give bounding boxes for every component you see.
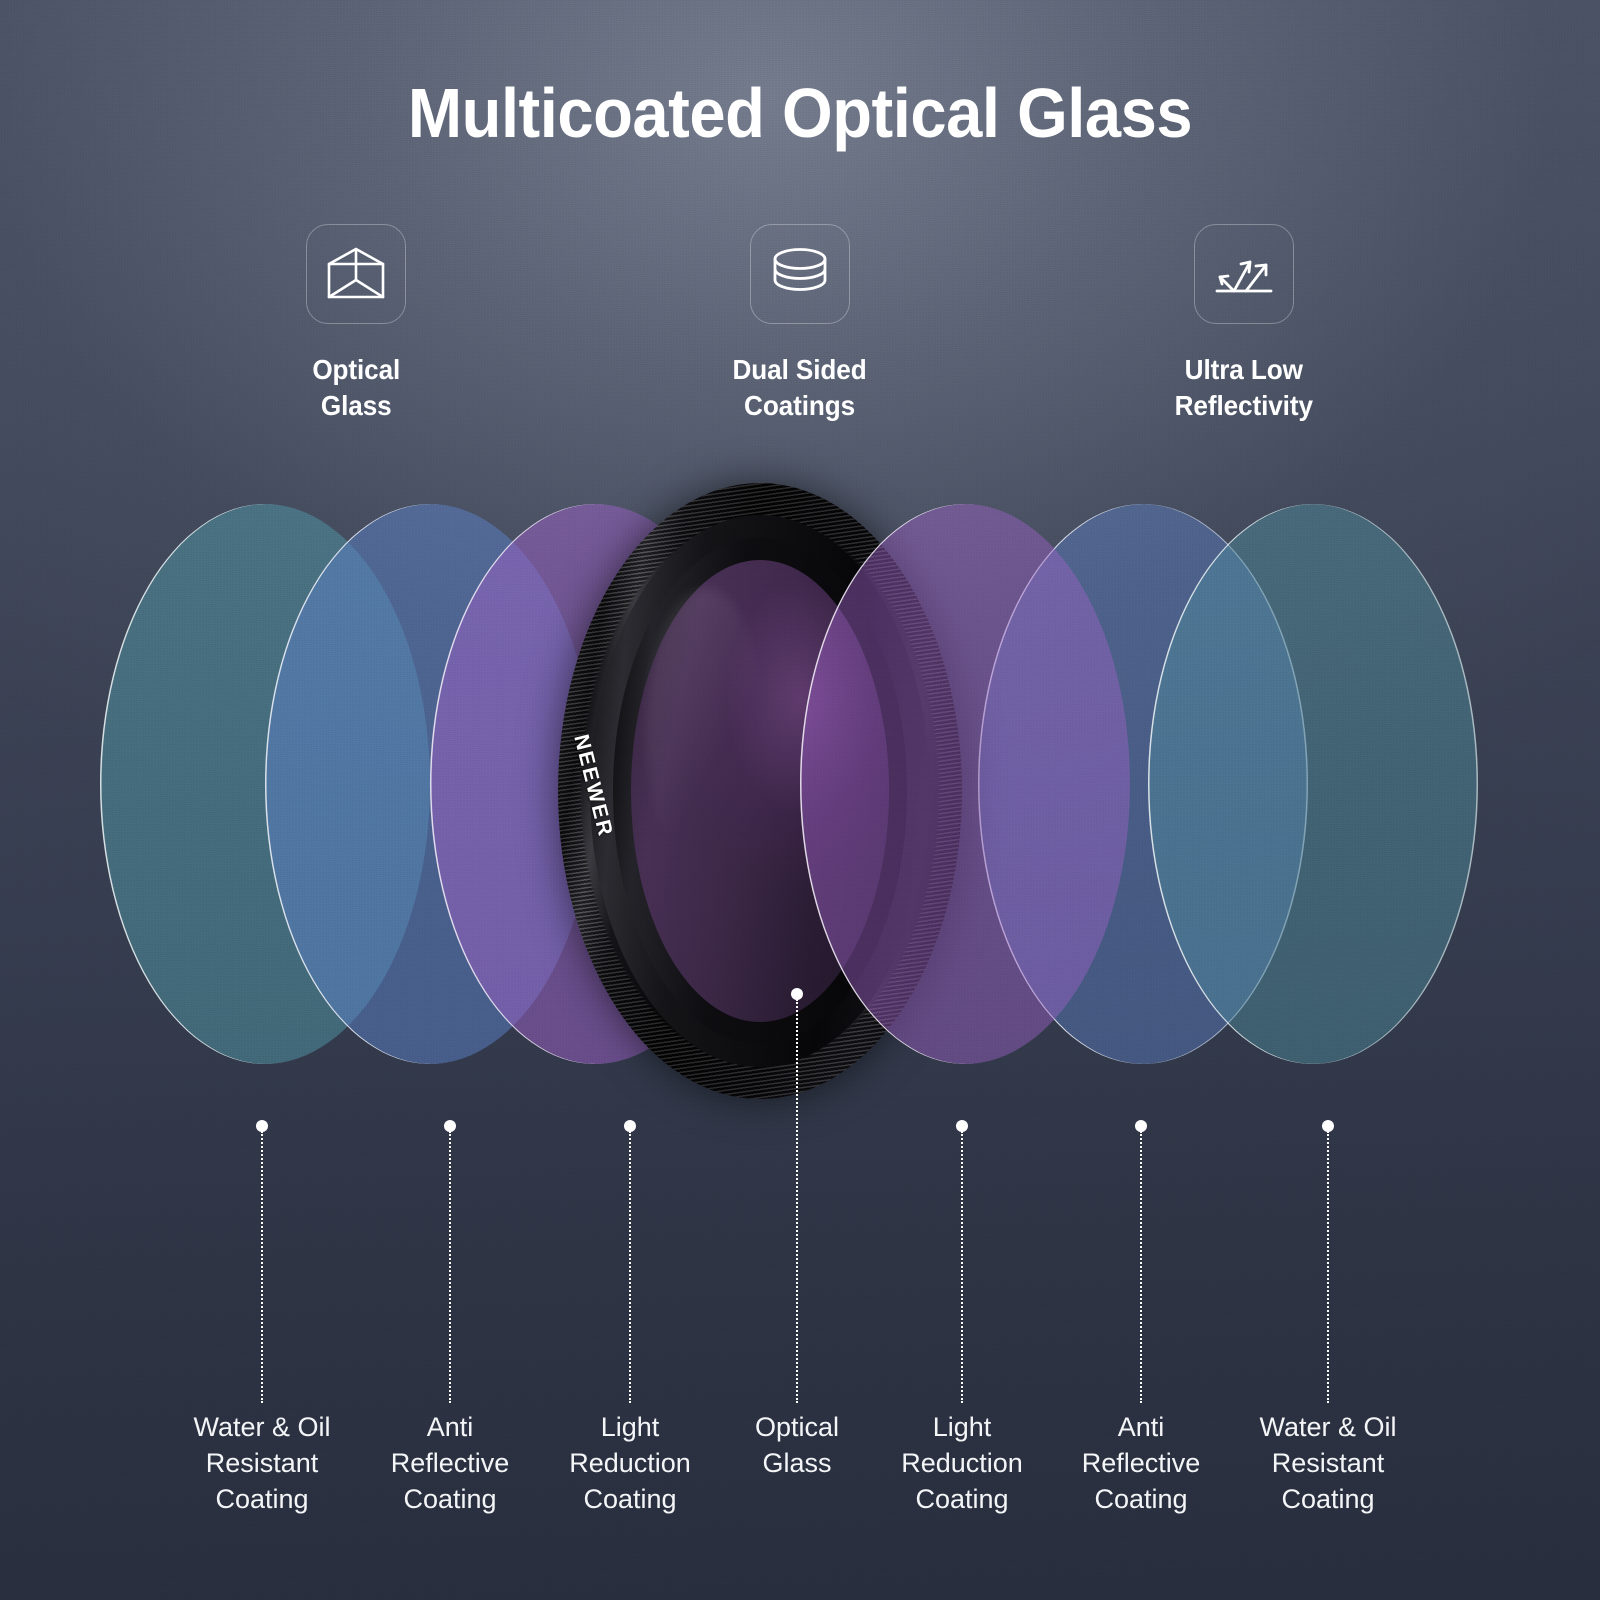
callout-label: Water & Oil Resistant Coating bbox=[1213, 1410, 1443, 1518]
callout-line bbox=[449, 1131, 453, 1403]
callout-line bbox=[961, 1131, 965, 1403]
callout-line bbox=[796, 999, 800, 1403]
callout-line bbox=[1140, 1131, 1144, 1403]
callout-line bbox=[1327, 1131, 1331, 1403]
callout-group: Water & Oil Resistant Coating Anti Refle… bbox=[0, 0, 1600, 1600]
infographic-page: Multicoated Optical Glass Optical Glass bbox=[0, 0, 1600, 1600]
callout-line bbox=[261, 1131, 265, 1403]
callout-line bbox=[629, 1131, 633, 1403]
